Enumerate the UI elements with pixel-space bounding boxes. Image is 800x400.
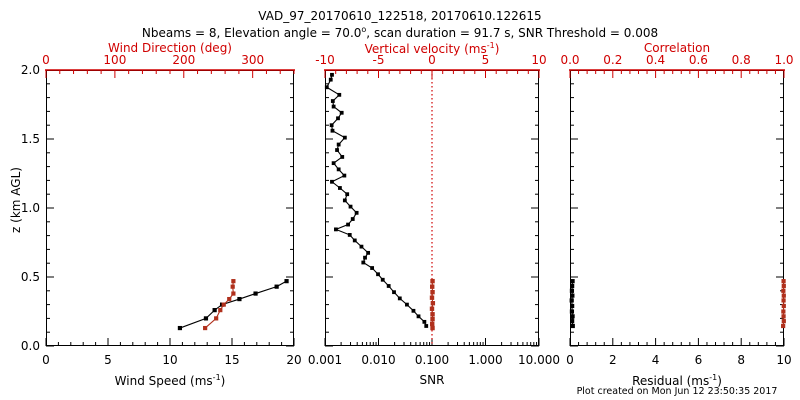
y-axis-tick-label: 0.5 [21, 270, 40, 284]
data-point-marker [351, 217, 355, 221]
data-point-marker [570, 289, 574, 293]
data-point-marker [430, 290, 434, 294]
top-axis-tick-label: 10 [531, 53, 546, 67]
data-point-marker [430, 312, 434, 316]
top-axis-tick-label: 300 [241, 53, 264, 67]
data-point-marker [782, 319, 786, 323]
data-point-marker [782, 284, 786, 288]
x-axis-tick-label: 6 [695, 353, 703, 367]
x-axis-tick-label: 15 [224, 353, 239, 367]
data-point-marker [331, 129, 335, 133]
x-axis-tick-label: 1.000 [468, 353, 502, 367]
data-point-marker [405, 303, 409, 307]
data-point-marker [340, 111, 344, 115]
data-point-marker [338, 186, 342, 190]
data-point-marker [782, 304, 786, 308]
data-point-marker [334, 227, 338, 231]
plot-overlay: 0.00.51.01.52.00510152001002003000.0010.… [0, 0, 800, 400]
data-point-marker [782, 294, 786, 298]
data-point-marker [570, 294, 574, 298]
data-point-marker [363, 256, 367, 260]
data-point-marker [370, 266, 374, 270]
x-axis-tick-label: 10 [162, 353, 177, 367]
data-point-marker [392, 290, 396, 294]
top-axis-tick-label: 0.0 [560, 53, 579, 67]
data-point-marker [231, 291, 235, 295]
data-point-marker [227, 297, 231, 301]
data-point-marker [422, 320, 426, 324]
data-point-marker [337, 143, 341, 147]
data-point-marker [381, 278, 385, 282]
data-point-marker [430, 317, 434, 321]
data-point-marker [570, 284, 574, 288]
data-point-marker [431, 301, 435, 305]
data-point-marker [412, 309, 416, 313]
data-point-marker [231, 279, 235, 283]
top-axis-tick-label: 0.8 [732, 53, 751, 67]
data-point-marker [361, 261, 365, 265]
data-point-marker [570, 304, 574, 308]
data-point-marker [343, 199, 347, 203]
x-axis-tick-label: 8 [737, 353, 745, 367]
top-axis-tick-label: 5 [482, 53, 490, 67]
data-point-marker [204, 316, 208, 320]
data-point-marker [781, 298, 785, 302]
data-point-marker [340, 155, 344, 159]
data-point-marker [570, 298, 574, 302]
data-point-marker [325, 85, 329, 89]
data-point-marker [203, 326, 207, 330]
data-point-marker [337, 167, 341, 171]
data-point-marker [430, 296, 434, 300]
series-line [205, 281, 233, 328]
data-point-marker [430, 326, 434, 330]
top-axis-tick-label: 0.4 [646, 53, 665, 67]
data-point-marker [424, 324, 428, 328]
top-axis-tick-label: 0.6 [689, 53, 708, 67]
data-point-marker [329, 78, 333, 82]
data-point-marker [430, 307, 434, 311]
data-point-marker [331, 99, 335, 103]
data-point-marker [387, 284, 391, 288]
x-axis-tick-label: 20 [286, 353, 301, 367]
data-point-marker [214, 316, 218, 320]
x-axis-tick-label: 0 [42, 353, 50, 367]
data-point-marker [343, 136, 347, 140]
data-point-marker [213, 308, 217, 312]
data-point-marker [398, 296, 402, 300]
data-point-marker [218, 308, 222, 312]
x-axis-tick-label: 0.001 [308, 353, 342, 367]
y-axis-tick-label: 2.0 [21, 63, 40, 77]
top-axis-tick-label: -10 [315, 53, 335, 67]
top-axis-tick-label: 1.0 [774, 53, 793, 67]
data-point-marker [781, 309, 785, 313]
top-axis-tick-label: 0 [428, 53, 436, 67]
data-point-marker [353, 239, 357, 243]
data-point-marker [342, 174, 346, 178]
x-axis-tick-label: 0.010 [361, 353, 395, 367]
data-point-marker [330, 180, 334, 184]
data-point-marker [348, 233, 352, 237]
x-axis-tick-label: 0.100 [415, 353, 449, 367]
data-point-marker [335, 148, 339, 152]
data-point-marker [570, 319, 574, 323]
data-point-marker [332, 161, 336, 165]
top-axis-tick-label: 200 [172, 53, 195, 67]
top-axis-tick-label: 0.2 [603, 53, 622, 67]
data-point-marker [781, 314, 785, 318]
x-axis-tick-label: 0 [566, 353, 574, 367]
y-axis-tick-label: 1.5 [21, 132, 40, 146]
data-point-marker [253, 291, 257, 295]
top-axis-tick-label: 100 [103, 53, 126, 67]
data-point-marker [430, 322, 434, 326]
data-point-marker [571, 324, 575, 328]
data-point-marker [222, 303, 226, 307]
y-axis-tick-label: 1.0 [21, 201, 40, 215]
data-point-marker [332, 105, 336, 109]
data-point-marker [430, 284, 434, 288]
data-point-marker [231, 285, 235, 289]
top-axis-tick-label: 0 [42, 53, 50, 67]
data-point-marker [330, 123, 334, 127]
data-point-marker [430, 279, 434, 283]
x-axis-tick-label: 5 [104, 353, 112, 367]
x-axis-tick-label: 2 [609, 353, 617, 367]
data-point-marker [284, 279, 288, 283]
data-point-marker [336, 116, 340, 120]
data-point-marker [345, 192, 349, 196]
data-point-marker [237, 297, 241, 301]
x-axis-tick-label: 10 [776, 353, 791, 367]
x-axis-tick-label: 4 [652, 353, 660, 367]
data-point-marker [781, 289, 785, 293]
data-point-marker [355, 211, 359, 215]
top-axis-tick-label: -5 [373, 53, 385, 67]
data-point-marker [570, 279, 574, 283]
data-point-marker [330, 73, 334, 77]
data-point-marker [570, 314, 574, 318]
data-point-marker [376, 272, 380, 276]
data-point-marker [275, 285, 279, 289]
data-point-marker [781, 279, 785, 283]
data-point-marker [349, 205, 353, 209]
data-point-marker [346, 223, 350, 227]
data-point-marker [781, 324, 785, 328]
y-axis-tick-label: 0.0 [21, 339, 40, 353]
data-point-marker [570, 309, 574, 313]
x-axis-tick-label: 10.000 [518, 353, 560, 367]
data-point-marker [178, 326, 182, 330]
figure-root: VAD_97_20170610_122518, 20170610.122615 … [0, 0, 800, 400]
data-point-marker [360, 245, 364, 249]
data-point-marker [417, 314, 421, 318]
data-point-marker [366, 251, 370, 255]
data-point-marker [337, 93, 341, 97]
